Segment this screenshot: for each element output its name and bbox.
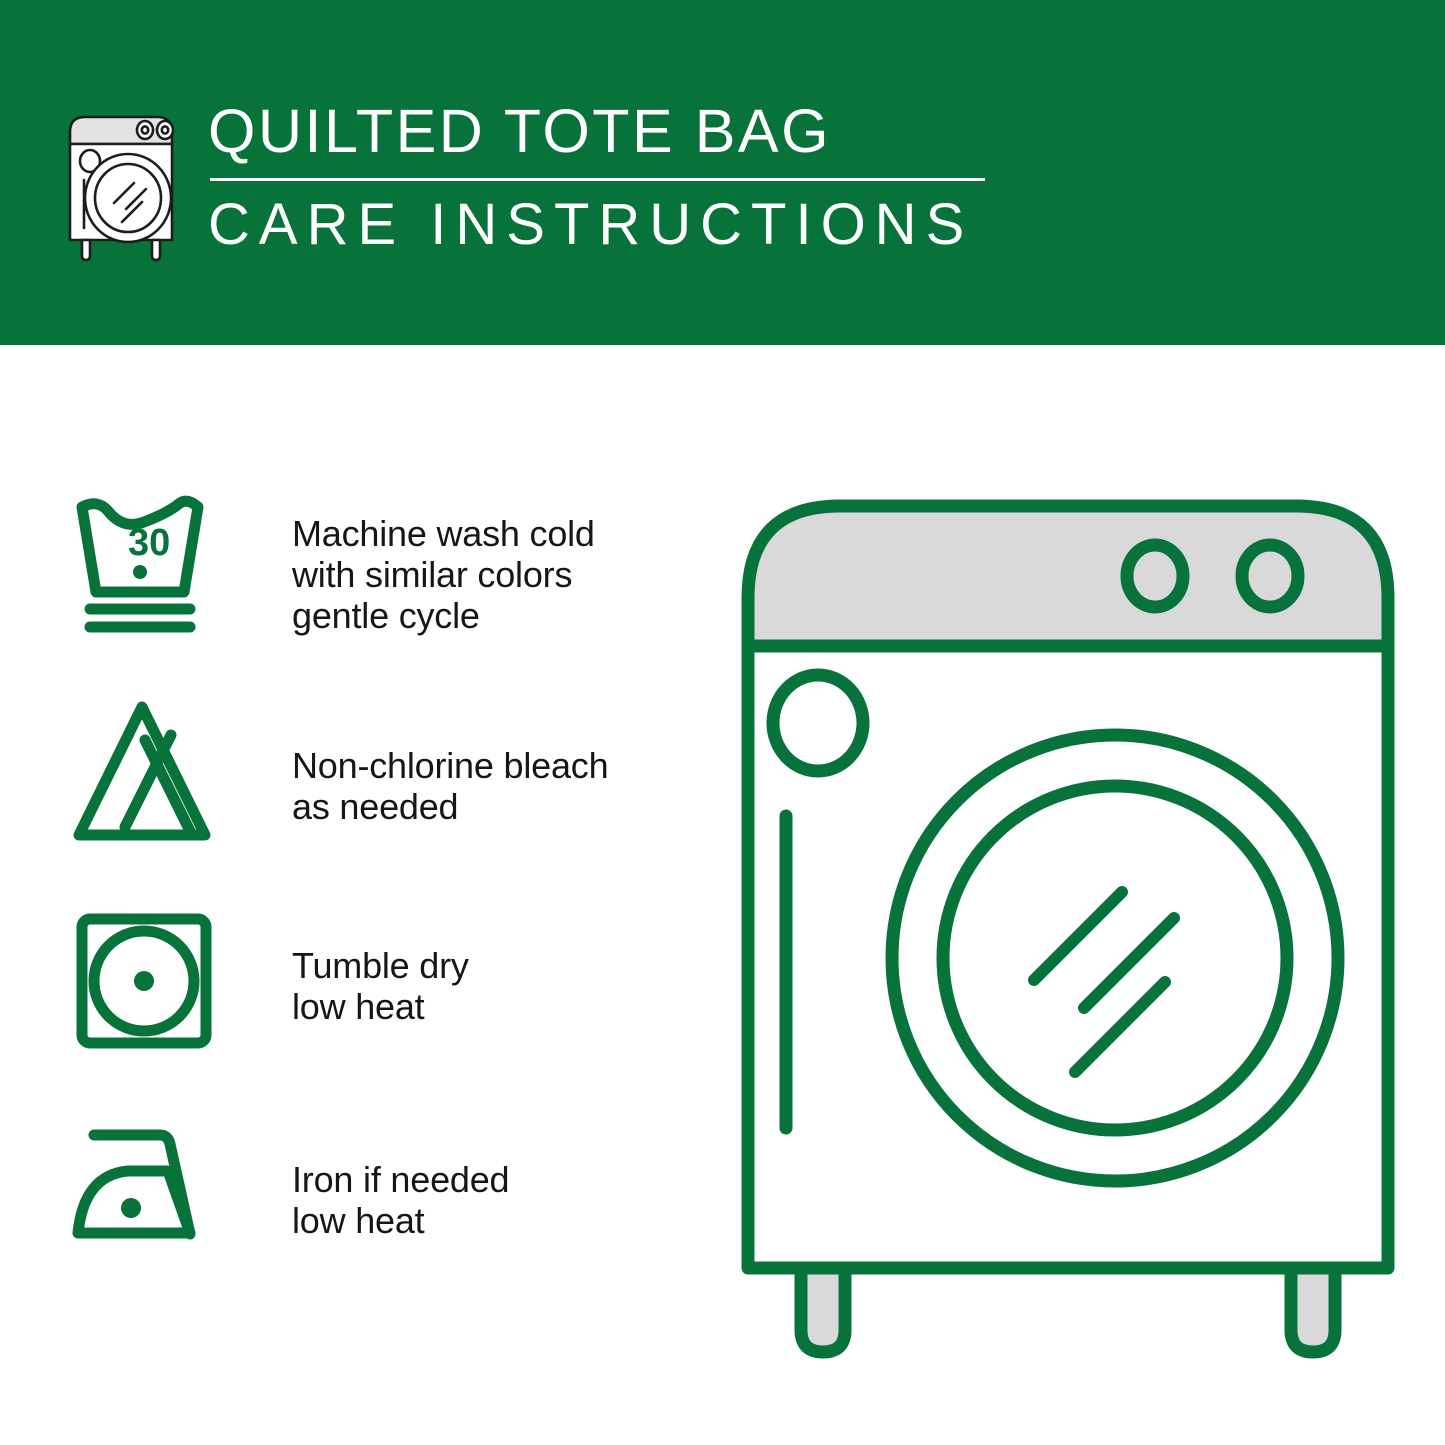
page-subtitle: CARE INSTRUCTIONS <box>208 193 985 257</box>
label-line: as needed <box>292 786 608 827</box>
knob-right <box>1242 545 1298 607</box>
door-inner-ring <box>943 786 1287 1130</box>
non-chlorine-bleach-triangle-icon <box>68 695 228 850</box>
list-item-label: Iron if needed low heat <box>292 1111 509 1241</box>
header-titles: QUILTED TOTE BAG CARE INSTRUCTIONS <box>208 96 985 257</box>
knob-left <box>1127 545 1183 607</box>
header-banner: QUILTED TOTE BAG CARE INSTRUCTIONS <box>0 0 1445 345</box>
label-line: Iron if needed <box>292 1159 509 1200</box>
care-instructions-list: 30 Machine wash cold with similar colors… <box>68 487 688 1319</box>
label-line: low heat <box>292 1200 509 1241</box>
title-divider <box>210 178 985 181</box>
list-item: 30 Machine wash cold with similar colors… <box>68 487 688 695</box>
label-line: low heat <box>292 986 469 1027</box>
care-instructions-page: QUILTED TOTE BAG CARE INSTRUCTIONS 30 <box>0 0 1445 1445</box>
list-item: Iron if needed low heat <box>68 1111 688 1319</box>
leg-right <box>1291 1268 1335 1352</box>
label-line: Machine wash cold <box>292 513 595 554</box>
list-item-label: Machine wash cold with similar colors ge… <box>292 487 595 636</box>
label-line: Tumble dry <box>292 945 469 986</box>
list-item-label: Tumble dry low heat <box>292 903 469 1027</box>
wash-tub-30-icon: 30 <box>68 487 228 642</box>
wash-temperature-value: 30 <box>128 522 170 564</box>
washing-machine-icon <box>62 104 180 264</box>
washing-machine-illustration <box>718 468 1418 1368</box>
leg-left <box>801 1268 845 1352</box>
list-item: Non-chlorine bleach as needed <box>68 695 688 903</box>
header-content: QUILTED TOTE BAG CARE INSTRUCTIONS <box>62 96 985 264</box>
label-line: gentle cycle <box>292 595 595 636</box>
iron-low-heat-icon <box>68 1111 228 1266</box>
list-item: Tumble dry low heat <box>68 903 688 1111</box>
tumble-dry-low-icon <box>68 903 228 1058</box>
list-item-label: Non-chlorine bleach as needed <box>292 695 608 827</box>
page-title: QUILTED TOTE BAG <box>208 98 985 164</box>
label-line: Non-chlorine bleach <box>292 745 608 786</box>
detergent-dial <box>773 675 863 771</box>
label-line: with similar colors <box>292 554 595 595</box>
